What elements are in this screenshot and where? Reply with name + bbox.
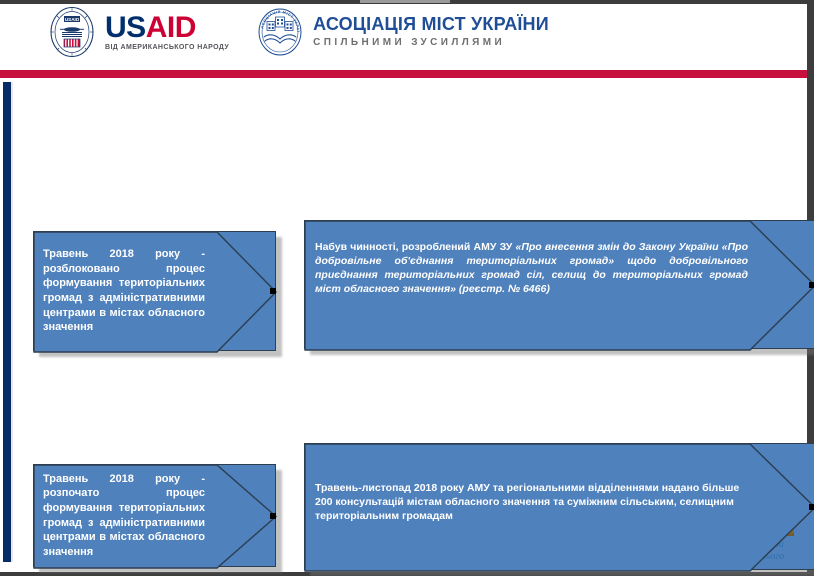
navy-frame-left bbox=[3, 82, 11, 562]
arrow-text-bottom-right: Травень-листопад 2018 року АМУ та регіон… bbox=[305, 482, 814, 524]
usaid-seal-icon: USAID bbox=[46, 6, 98, 58]
window-chrome-tab bbox=[360, 0, 450, 3]
slide-root: USAID bbox=[0, 0, 814, 576]
arrow-text-top-left: Травень 2018 року - розблоковано процес … bbox=[34, 247, 275, 334]
arrow-text-top-right: Набув чинності, розроблений АМУ ЗУ «Про … bbox=[305, 241, 814, 296]
slide-content: Травень 2018 року - розблоковано процес … bbox=[13, 80, 807, 564]
usaid-logo: USAID bbox=[46, 6, 229, 58]
arrow-text-top-right-lead: Набув чинності, розроблений АМУ ЗУ bbox=[315, 241, 515, 253]
arrow-block-top-left[interactable]: Травень 2018 року - розблоковано процес … bbox=[33, 231, 276, 351]
svg-text:USAID: USAID bbox=[65, 17, 80, 22]
arrow-block-bottom-right[interactable]: Травень-листопад 2018 року АМУ та регіон… bbox=[304, 443, 814, 570]
usaid-word-us: US bbox=[105, 11, 146, 44]
amu-wordmark: АСОЦІАЦІЯ МІСТ УКРАЇНИ СПІЛЬНИМИ ЗУСИЛЛЯ… bbox=[313, 14, 549, 50]
usaid-word-aid: AID bbox=[146, 11, 196, 44]
red-accent-bar bbox=[0, 70, 807, 78]
arrow-block-top-right[interactable]: Набув чинності, розроблений АМУ ЗУ «Про … bbox=[304, 220, 814, 349]
usaid-word: USAID bbox=[105, 13, 229, 43]
amu-seal-icon: АСОЦІАЦІЯ МІСТ УКРАЇНИ bbox=[255, 7, 305, 57]
usaid-tagline: ВІД АМЕРИКАНСЬКОГО НАРОДУ bbox=[105, 44, 229, 51]
slide-header: USAID bbox=[0, 4, 807, 68]
arrow-text-top-right-trail: (реєстр. № 6466) bbox=[456, 283, 550, 295]
arrow-text-bottom-left: Травень 2018 року - розпочато процес фор… bbox=[34, 472, 275, 559]
logo-row: USAID bbox=[46, 6, 549, 58]
arrow-block-bottom-left[interactable]: Травень 2018 року - розпочато процес фор… bbox=[33, 464, 276, 567]
amu-logo: АСОЦІАЦІЯ МІСТ УКРАЇНИ bbox=[255, 7, 549, 57]
usaid-wordmark: USAID ВІД АМЕРИКАНСЬКОГО НАРОДУ bbox=[105, 13, 229, 51]
amu-subtitle: СПІЛЬНИМИ ЗУСИЛЛЯМИ bbox=[313, 36, 549, 50]
amu-title: АСОЦІАЦІЯ МІСТ УКРАЇНИ bbox=[313, 14, 549, 34]
